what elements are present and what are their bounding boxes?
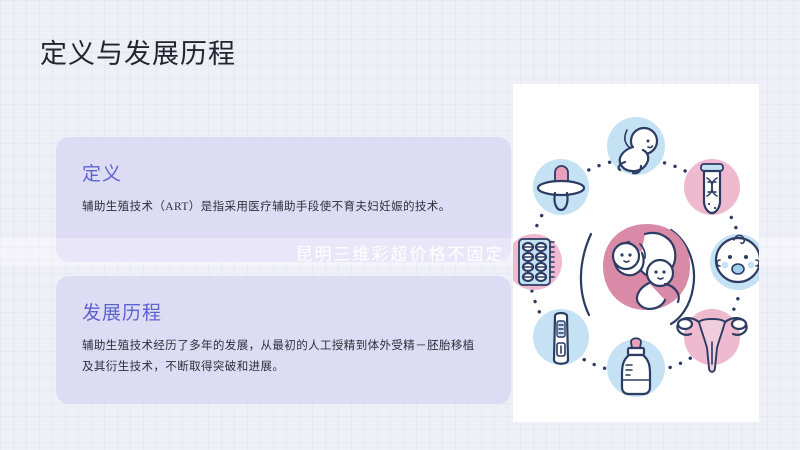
dna-test-tube-icon [684,159,740,215]
baby-face-icon [710,234,759,290]
slide-canvas: 定义与发展历程 定义 辅助生殖技术（ART）是指采用医疗辅助手段使不育夫妇妊娠的… [0,0,800,450]
pregnancy-test-icon [533,309,589,365]
page-title: 定义与发展历程 [40,32,236,71]
pill-blister-icon [513,234,562,290]
card-definition-heading: 定义 [82,159,485,186]
card-history: 发展历程 辅助生殖技术经历了多年的发展，从最初的人工授精到体外受精－胚胎移植及其… [56,276,511,404]
pacifier-icon [533,159,589,215]
illustration-panel: .ol{fill:none;stroke:#2d3c63;stroke-widt… [513,84,759,422]
pregnant-belly-twins-icon [581,224,694,324]
card-definition: 定义 辅助生殖技术（ART）是指采用医疗辅助手段使不育夫妇妊娠的技术。 [56,137,511,262]
card-definition-body: 辅助生殖技术（ART）是指采用医疗辅助手段使不育夫妇妊娠的技术。 [82,197,485,218]
fetus-icon [607,117,665,175]
uterus-icon [677,309,746,372]
card-history-heading: 发展历程 [82,298,485,325]
baby-bottle-icon [607,338,665,397]
card-history-body: 辅助生殖技术经历了多年的发展，从最初的人工授精到体外受精－胚胎移植及其衍生技术，… [82,336,485,379]
